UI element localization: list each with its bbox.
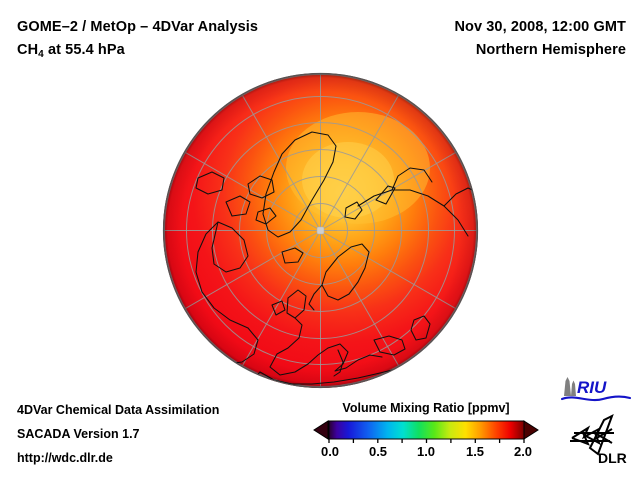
timestamp-label: Nov 30, 2008, 12:00 GMT	[306, 16, 626, 39]
colorbar-gradient	[329, 421, 524, 439]
colorbar-tick-4: 2.0	[514, 444, 532, 459]
species-label: CH	[17, 42, 38, 58]
colorbar-over-arrow	[524, 421, 538, 439]
footer-left: 4DVar Chemical Data Assimilation SACADA …	[17, 398, 317, 470]
globe-disc	[163, 73, 478, 389]
colorbar-under-arrow	[314, 421, 328, 439]
dlr-logo-svg: DLR	[568, 414, 632, 466]
dlr-emblem-icon	[570, 416, 614, 454]
colorbar-tick-3: 1.5	[466, 444, 484, 459]
colorbar-title: Volume Mixing Ratio [ppmv]	[312, 400, 540, 416]
colorbar: Volume Mixing Ratio [ppmv]	[312, 400, 540, 472]
globe-svg	[162, 72, 479, 389]
riu-logo-svg: RIU	[559, 374, 633, 404]
colorbar-tick-1: 0.5	[369, 444, 387, 459]
header-right: Nov 30, 2008, 12:00 GMT Northern Hemisph…	[306, 16, 626, 62]
colorbar-graphic	[312, 419, 540, 443]
colorbar-tick-2: 1.0	[417, 444, 435, 459]
footer-url-link[interactable]: http://wdc.dlr.de	[17, 446, 317, 470]
dlr-logo: DLR	[568, 414, 632, 466]
riu-wordmark: RIU	[577, 378, 607, 397]
hemisphere-label: Northern Hemisphere	[306, 39, 626, 62]
globe-map	[162, 72, 479, 389]
footer-version-label: SACADA Version 1.7	[17, 422, 317, 446]
riu-logo: RIU	[559, 374, 633, 404]
level-label: at 55.4 hPa	[44, 42, 125, 58]
riu-tower-icon	[564, 377, 576, 396]
footer-project-label: 4DVar Chemical Data Assimilation	[17, 398, 317, 422]
north-pole-marker	[317, 227, 324, 234]
colorbar-ticks	[329, 439, 524, 443]
colorbar-tick-0: 0.0	[321, 444, 339, 459]
colorbar-tick-labels: 0.0 0.5 1.0 1.5 2.0	[312, 444, 540, 464]
dlr-wordmark: DLR	[598, 450, 627, 466]
